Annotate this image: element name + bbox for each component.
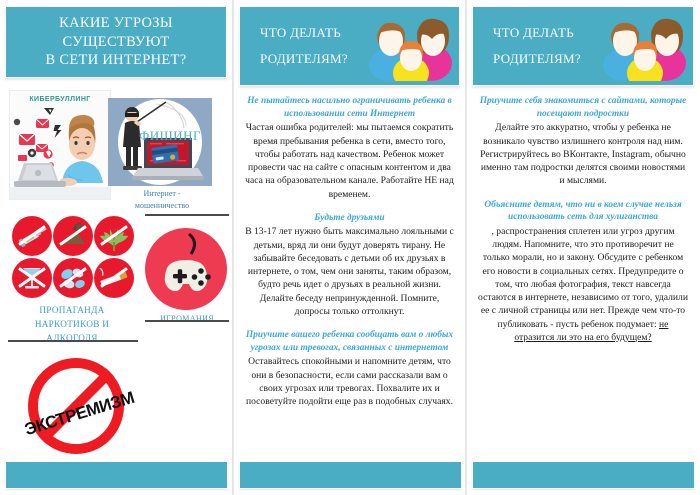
left-panel-title: КАКИЕ УГРОЗЫ СУЩЕСТВУЮТ В СЕТИ ИНТЕРНЕТ? [6,14,226,70]
no-cigarette-icon [94,258,134,298]
left-title-line-2: СУЩЕСТВУЮТ [6,33,226,52]
phishing-illustration [108,98,212,186]
no-syringe-icon [12,216,52,256]
divider-top-right [145,214,229,216]
no-pills-icon [53,258,93,298]
drugs-caption-line-1: ПРОПАГАНДА [4,304,140,318]
advice-text: Делайте это аккуратно, чтобы у ребенка н… [478,121,688,187]
phishing-caption-line-1: Интернет - [112,188,212,200]
extremism-section: ЭКСТРЕМИЗМ [0,352,232,472]
panel-advice-2: ЧТО ДЕЛАТЬ РОДИТЕЛЯМ? [466,0,699,495]
gaming-icon [145,228,227,310]
advice-subtitle: Приучите вашего ребенка сообщать вам о л… [245,329,454,354]
phishing-caption-line-2: мошенничество [112,200,212,212]
cyberbullying-illustration: КИБЕРБУЛЛИНГ [9,90,111,200]
advice-subtitle: Объясните детям, что ни в коем случае не… [478,199,688,224]
no-marijuana-leaf-icon [94,216,134,256]
drugs-caption-line-2: НАРКОТИКОВ И [4,318,140,332]
no-alcohol-glass-icon [12,258,52,298]
family-icon [367,13,453,86]
left-panel-footer-bar [5,461,228,489]
family-icon [601,13,687,86]
middle-panel-header: ЧТО ДЕЛАТЬ РОДИТЕЛЯМ? [239,6,460,86]
right-panel-header: ЧТО ДЕЛАТЬ РОДИТЕЛЯМ? [472,6,694,86]
right-panel-footer-bar [472,461,695,489]
cyberbullying-image [10,91,110,199]
advice-text: Оставайтесь спокойными и напомните детям… [245,355,454,408]
no-cannabis-pipe-icon [53,216,93,256]
middle-panel-footer-bar [239,461,462,489]
drugs-gaming-section: ПРОПАГАНДА НАРКОТИКОВ И АЛКОГОЛЯ ИГРОМАН… [0,212,232,352]
middle-panel-body: Не пытайтесь насильно ограничивать ребен… [234,86,465,408]
drugs-caption-line-3: АЛКОГОЛЯ [4,332,140,346]
panel-advice-1: ЧТО ДЕЛАТЬ РОДИТЕЛЯМ? [233,0,466,495]
advice-text: В 13-17 лет нужно быть максимально лояль… [245,225,454,318]
left-title-line-3: В СЕТИ ИНТЕРНЕТ? [6,51,226,70]
threat-illustrations: КИБЕРБУЛЛИНГ [0,82,232,212]
phishing-image [108,98,212,186]
drug-icon-grid [12,216,136,298]
gamepad-icon [145,228,227,310]
brochure-page: КАКИЕ УГРОЗЫ СУЩЕСТВУЮТ В СЕТИ ИНТЕРНЕТ?… [0,0,700,495]
phishing-caption: Интернет - мошенничество [112,188,212,211]
right-panel-body: Приучите себя знакомиться с сайтами, кот… [467,86,699,344]
left-title-line-1: КАКИЕ УГРОЗЫ [6,14,226,33]
advice-subtitle: Будьте друзьями [245,212,454,225]
advice-text-mixed: , распространения сплетен или угроз друг… [478,225,688,344]
advice-subtitle: Не пытайтесь насильно ограничивать ребен… [245,95,454,120]
left-panel-header: КАКИЕ УГРОЗЫ СУЩЕСТВУЮТ В СЕТИ ИНТЕРНЕТ? [5,6,227,78]
panel-threats: КАКИЕ УГРОЗЫ СУЩЕСТВУЮТ В СЕТИ ИНТЕРНЕТ?… [0,0,233,495]
advice-text: Частая ошибка родителей: мы пытаемся сок… [245,121,454,200]
advice-subtitle: Приучите себя знакомиться с сайтами, кот… [478,95,688,120]
divider-mid-right [145,320,229,322]
divider-mid-left [8,340,138,342]
cyberbullying-label: КИБЕРБУЛЛИНГ [10,96,110,103]
advice-text-plain: , распространения сплетен или угроз друг… [478,226,688,330]
